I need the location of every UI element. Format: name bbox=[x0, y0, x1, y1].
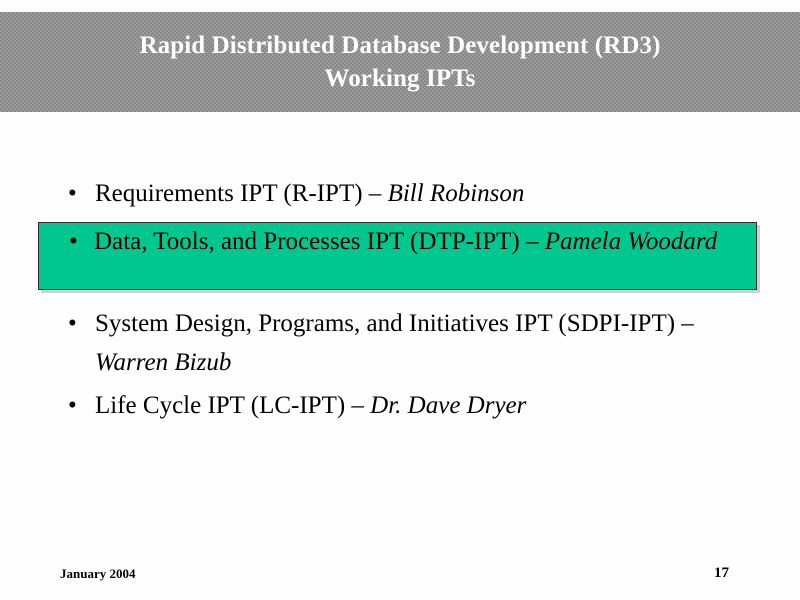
highlight-box-dtp-ipt: • Data, Tools, and Processes IPT (DTP-IP… bbox=[38, 222, 757, 290]
bullet-text: Data, Tools, and Processes IPT (DTP-IPT)… bbox=[94, 225, 744, 258]
bullet-item-sdpi-ipt: • System Design, Programs, and Initiativ… bbox=[0, 304, 800, 382]
bullet-owner-name: Bill Robinson bbox=[388, 180, 525, 207]
slide-body: • Requirements IPT (R-IPT) – Bill Robins… bbox=[0, 160, 800, 425]
bullet-marker-icon: • bbox=[68, 304, 77, 343]
bullet-owner-name: Warren Bizub bbox=[95, 349, 231, 376]
bullet-text: System Design, Programs, and Initiatives… bbox=[95, 304, 715, 382]
bullet-text-label: Data, Tools, and Processes IPT (DTP-IPT)… bbox=[94, 228, 545, 255]
footer-page-number: 17 bbox=[714, 565, 729, 582]
bullet-item-lc-ipt: • Life Cycle IPT (LC-IPT) – Dr. Dave Dry… bbox=[0, 386, 800, 425]
bullet-text-label: Life Cycle IPT (LC-IPT) – bbox=[95, 392, 370, 419]
bullet-item-dtp-ipt-wrapper: • Data, Tools, and Processes IPT (DTP-IP… bbox=[0, 222, 800, 292]
footer-date: January 2004 bbox=[60, 566, 135, 582]
bullet-text-label: Requirements IPT (R-IPT) – bbox=[95, 180, 388, 207]
bullet-marker-icon: • bbox=[69, 225, 78, 258]
slide-title-band: Rapid Distributed Database Development (… bbox=[0, 12, 800, 112]
bullet-text: Requirements IPT (R-IPT) – Bill Robinson bbox=[95, 174, 715, 213]
presentation-slide: Rapid Distributed Database Development (… bbox=[0, 0, 800, 600]
bullet-item-requirements-ipt: • Requirements IPT (R-IPT) – Bill Robins… bbox=[0, 174, 800, 216]
bullet-owner-name: Pamela Woodard bbox=[545, 228, 717, 255]
bullet-text: Life Cycle IPT (LC-IPT) – Dr. Dave Dryer bbox=[95, 386, 715, 425]
bullet-owner-name: Dr. Dave Dryer bbox=[370, 392, 526, 419]
slide-title-line-1: Rapid Distributed Database Development (… bbox=[139, 29, 660, 62]
bullet-marker-icon: • bbox=[68, 386, 77, 425]
bullet-marker-icon: • bbox=[68, 174, 77, 213]
bullet-text-label: System Design, Programs, and Initiatives… bbox=[95, 310, 694, 337]
slide-title-line-2: Working IPTs bbox=[324, 62, 475, 95]
